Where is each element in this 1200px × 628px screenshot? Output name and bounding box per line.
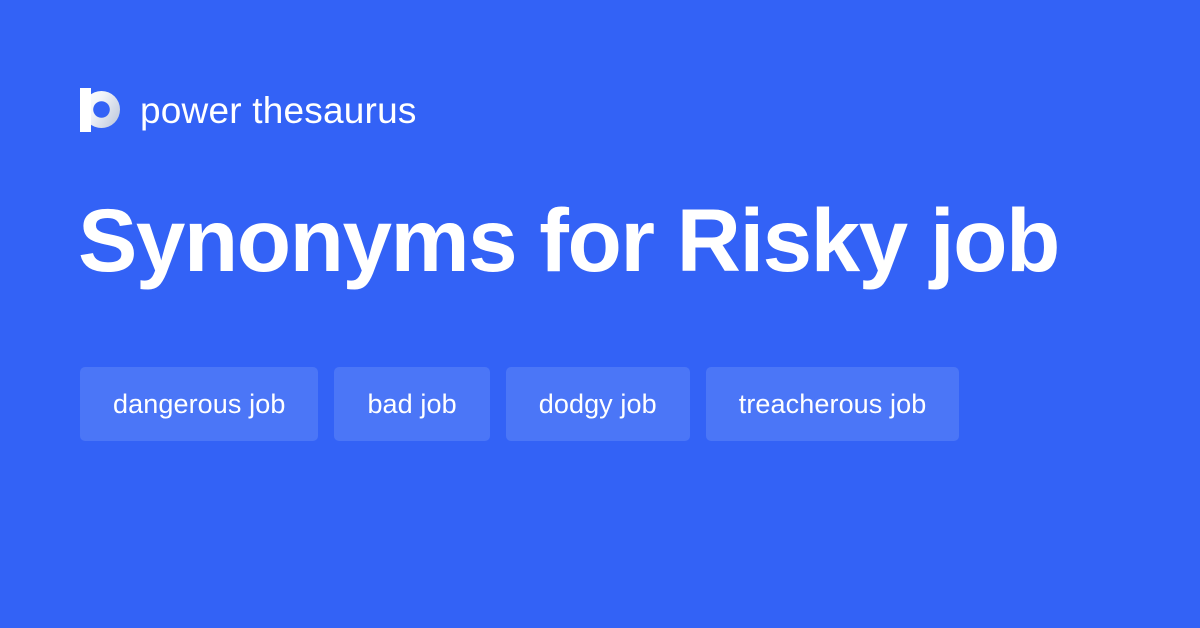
page-title: Synonyms for Risky job <box>78 196 1059 285</box>
power-thesaurus-logo-icon <box>80 88 120 132</box>
synonym-chip[interactable]: dodgy job <box>506 367 690 441</box>
brand-header: power thesaurus <box>80 84 417 136</box>
synonym-chip[interactable]: bad job <box>334 367 489 441</box>
synonym-chip[interactable]: treacherous job <box>706 367 960 441</box>
synonym-list: dangerous job bad job dodgy job treacher… <box>80 367 1120 441</box>
brand-name: power thesaurus <box>140 92 417 129</box>
synonym-chip[interactable]: dangerous job <box>80 367 318 441</box>
share-card: power thesaurus Synonyms for Risky job d… <box>0 0 1200 628</box>
